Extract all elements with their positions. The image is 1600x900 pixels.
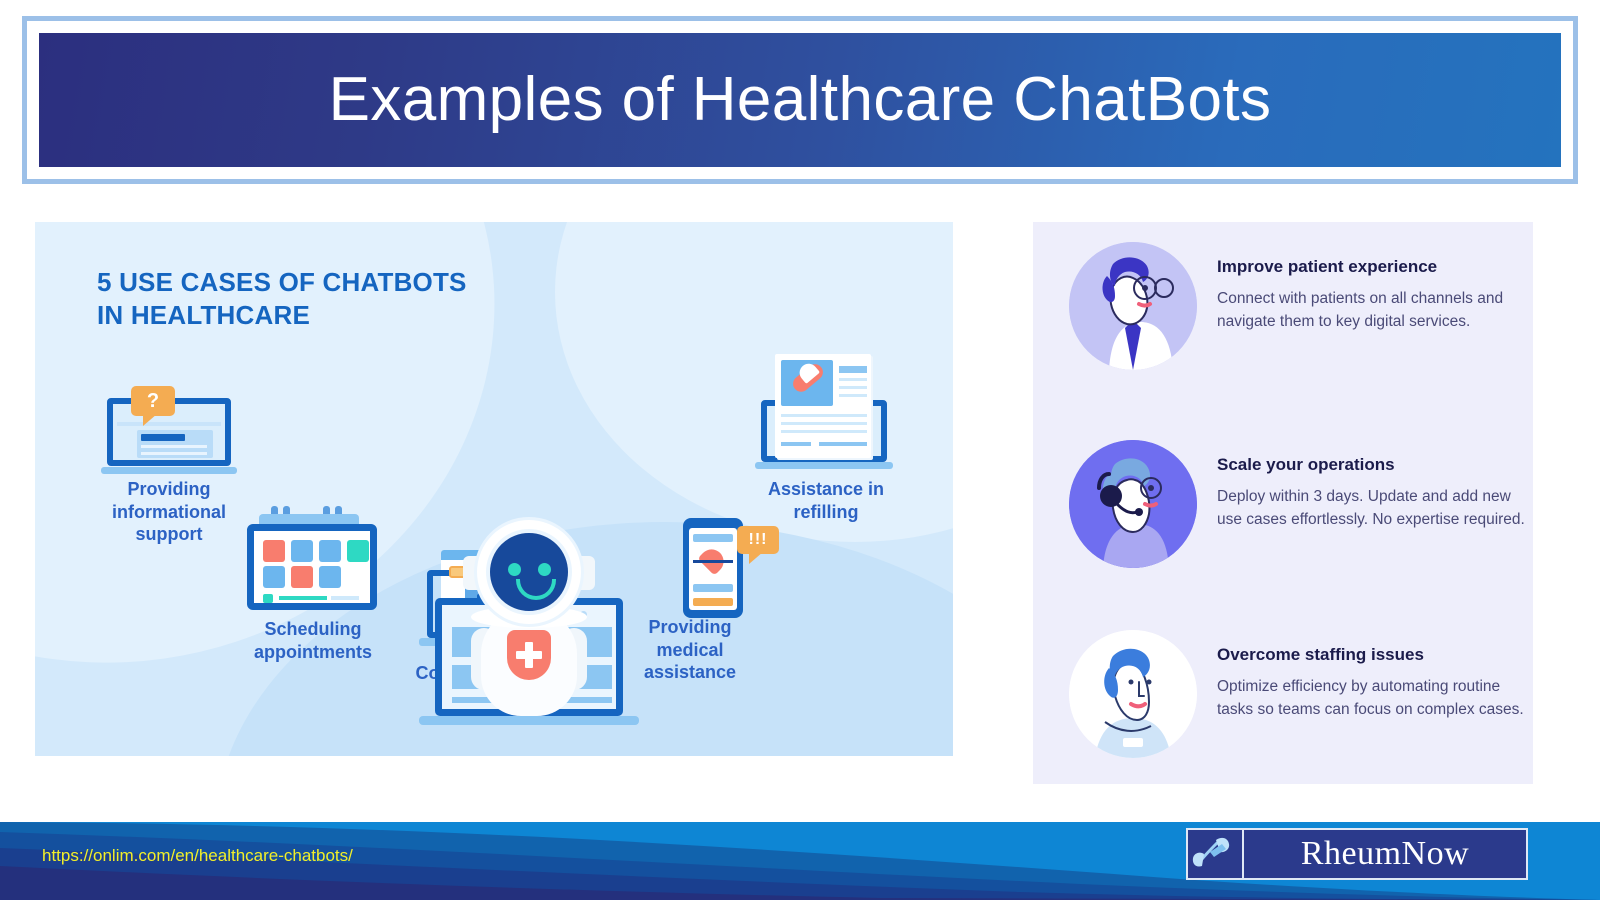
use-case-label-scheduling-appointments: Scheduling appointments: [233, 618, 393, 663]
slide-root: Examples of Healthcare ChatBots 5 USE CA…: [0, 0, 1600, 900]
infographic-heading-line2: IN HEALTHCARE: [97, 299, 467, 332]
infographic-heading: 5 USE CASES OF CHATBOTS IN HEALTHCARE: [97, 266, 467, 331]
benefit-card-text: Overcome staffing issues Optimize effici…: [1217, 630, 1529, 758]
prescription-document-icon: [751, 348, 897, 476]
infographic-panel: 5 USE CASES OF CHATBOTS IN HEALTHCARE ? …: [35, 222, 953, 756]
use-case-label-informational-support: Providing informational support: [93, 478, 245, 546]
benefits-panel: Improve patient experience Connect with …: [1033, 222, 1533, 784]
benefit-card-body: Connect with patients on all channels an…: [1217, 287, 1529, 334]
phone-heartbeat-icon: !!!: [651, 512, 771, 620]
title-banner: Examples of Healthcare ChatBots: [39, 33, 1561, 167]
benefit-card-scale-your-operations: Scale your operations Deploy within 3 da…: [1069, 440, 1529, 568]
benefit-card-title: Improve patient experience: [1217, 256, 1529, 279]
benefit-card-title: Scale your operations: [1217, 454, 1529, 477]
rheumnow-logo[interactable]: RheumNow: [1186, 828, 1528, 880]
benefit-card-title: Overcome staffing issues: [1217, 644, 1529, 667]
robot-face: [486, 529, 572, 615]
benefit-card-overcome-staffing-issues: Overcome staffing issues Optimize effici…: [1069, 630, 1529, 758]
benefit-card-improve-patient-experience: Improve patient experience Connect with …: [1069, 242, 1529, 370]
robot-medical-cross-badge: [507, 630, 551, 680]
laptop-question-icon: ?: [101, 374, 237, 474]
rheumnow-logo-text: RheumNow: [1244, 830, 1526, 878]
benefit-card-text: Scale your operations Deploy within 3 da…: [1217, 440, 1529, 568]
benefit-card-text: Improve patient experience Connect with …: [1217, 242, 1529, 370]
robot-eye-right: [538, 563, 551, 576]
page-title: Examples of Healthcare ChatBots: [329, 66, 1272, 134]
chatbot-robot-illustration: [419, 520, 639, 732]
source-url-link[interactable]: https://onlim.com/en/healthcare-chatbots…: [42, 846, 353, 866]
benefit-card-body: Optimize efficiency by automating routin…: [1217, 675, 1529, 722]
use-case-label-assistance-in-refilling: Assistance in refilling: [751, 478, 901, 523]
benefit-card-body: Deploy within 3 days. Update and add new…: [1217, 485, 1529, 532]
avatar-male-nurse-icon: [1069, 630, 1197, 758]
joint-bone-icon: [1188, 830, 1244, 878]
avatar-headset-agent-icon: [1069, 440, 1197, 568]
tablet-calendar-icon: [243, 506, 383, 614]
robot-smile: [516, 579, 556, 600]
alert-bubble: !!!: [737, 526, 779, 554]
infographic-heading-line1: 5 USE CASES OF CHATBOTS: [97, 266, 467, 299]
robot-head: [477, 520, 581, 624]
title-frame: Examples of Healthcare ChatBots: [22, 16, 1578, 184]
robot-eye-left: [508, 563, 521, 576]
question-bubble: ?: [131, 386, 175, 416]
robot-laptop-base: [419, 716, 639, 725]
avatar-female-doctor-icon: [1069, 242, 1197, 370]
